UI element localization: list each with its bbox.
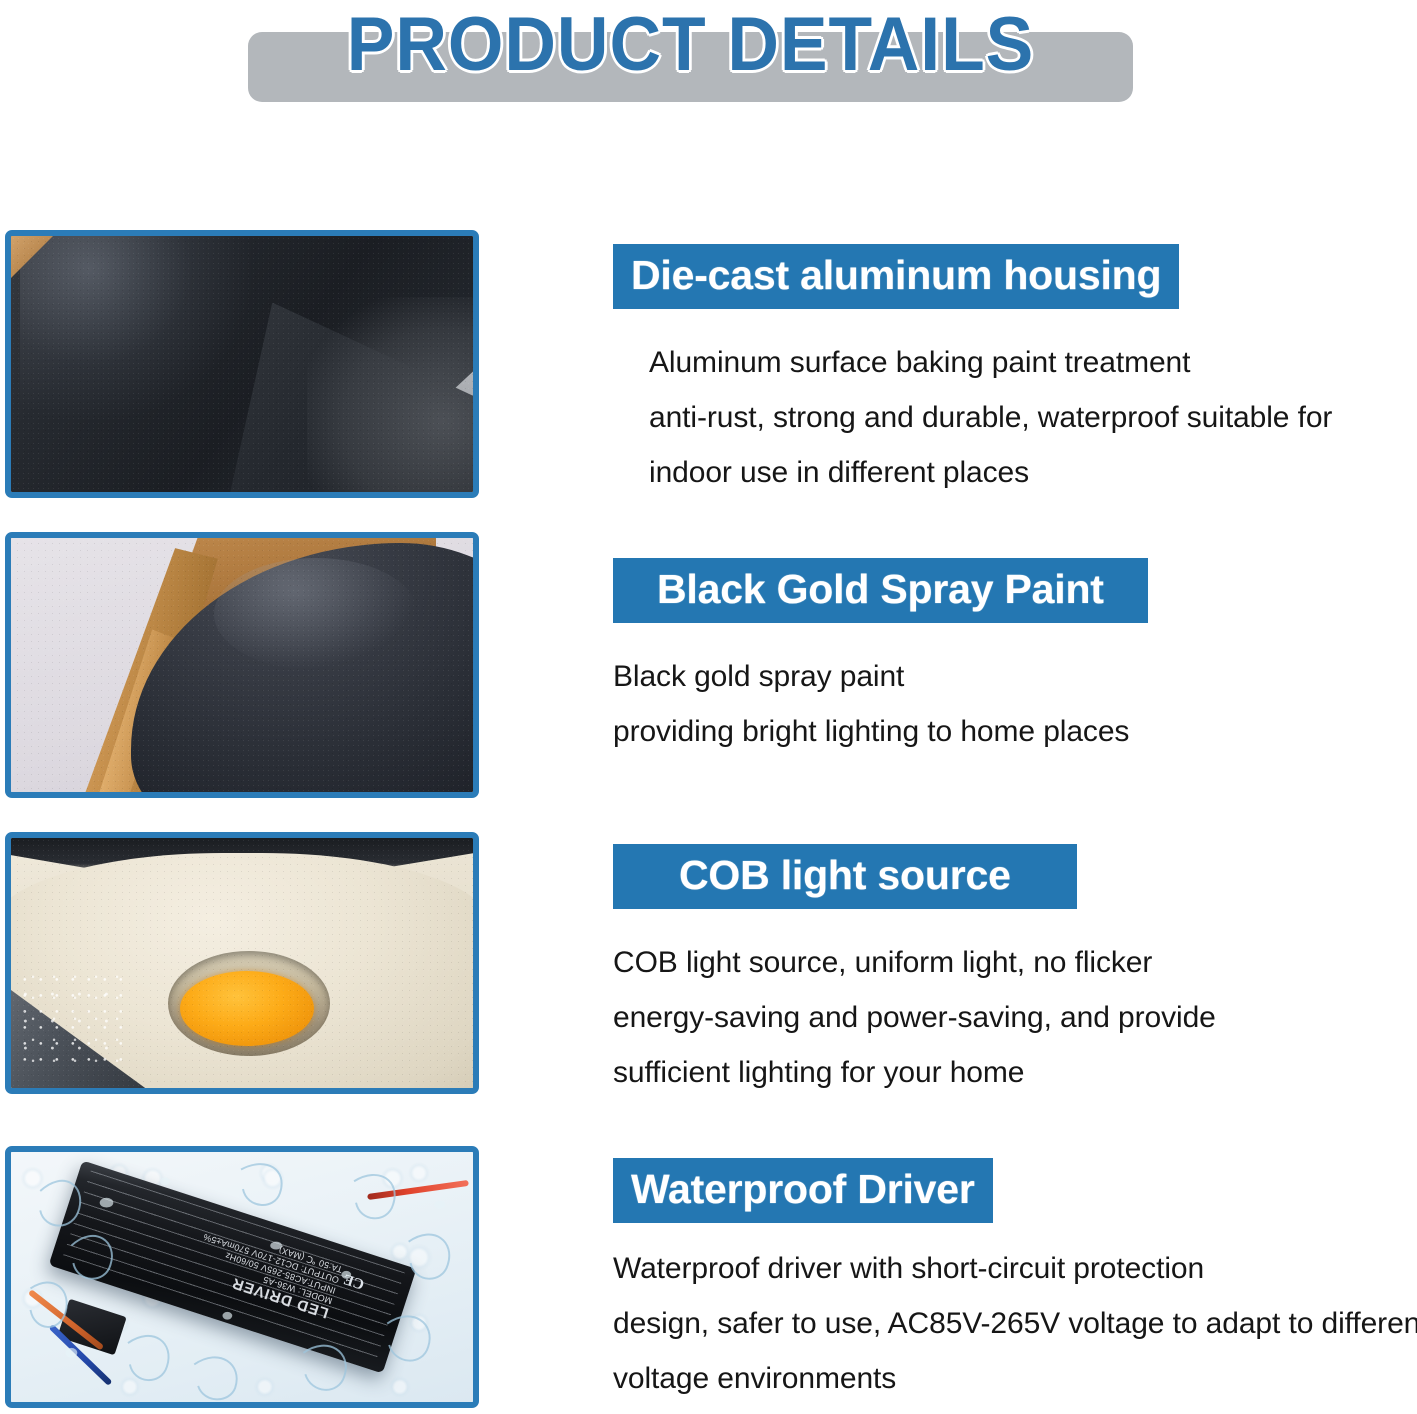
section-3-heading: COB light source bbox=[679, 853, 1011, 897]
section-3-body: COB light source, uniform light, no flic… bbox=[613, 935, 1216, 1100]
section-cob-light-source: COB light source COB light source, unifo… bbox=[0, 832, 1417, 1094]
body-line: COB light source, uniform light, no flic… bbox=[613, 935, 1216, 990]
body-line: indoor use in different places bbox=[649, 445, 1332, 500]
section-2-heading: Black Gold Spray Paint bbox=[657, 567, 1104, 611]
photo-canvas-4: LED DRIVER MODEL: W36-A5 INPUT:AC85-265V… bbox=[11, 1152, 473, 1402]
body-line: Black gold spray paint bbox=[613, 649, 1148, 704]
section-4-text-column: Waterproof Driver Waterproof driver with… bbox=[613, 1158, 1417, 1406]
body-line: voltage environments bbox=[613, 1351, 1417, 1406]
paint-texture-grain bbox=[11, 538, 473, 792]
body-line: design, safer to use, AC85V-265V voltage… bbox=[613, 1296, 1417, 1351]
body-line: sufficient lighting for your home bbox=[613, 1045, 1216, 1100]
product-details-infographic: PRODUCT DETAILS Die-cast aluminum housin… bbox=[0, 0, 1417, 1414]
body-line: Aluminum surface baking paint treatment bbox=[649, 335, 1332, 390]
section-black-gold-spray-paint: Black Gold Spray Paint Black gold spray … bbox=[0, 532, 1417, 798]
paint-texture-grain bbox=[11, 236, 473, 492]
body-line: Waterproof driver with short-circuit pro… bbox=[613, 1241, 1417, 1296]
section-4-heading: Waterproof Driver bbox=[631, 1167, 975, 1211]
water-splash-overlay bbox=[11, 1152, 473, 1402]
section-2-body: Black gold spray paint providing bright … bbox=[613, 649, 1148, 759]
page-title-banner: PRODUCT DETAILS bbox=[0, 0, 1417, 120]
section-4-heading-bar: Waterproof Driver bbox=[613, 1158, 993, 1223]
section-3-text-column: COB light source COB light source, unifo… bbox=[613, 844, 1216, 1100]
black-gold-spray-paint-photo bbox=[5, 532, 479, 798]
section-1-heading: Die-cast aluminum housing bbox=[631, 253, 1161, 297]
body-line: anti-rust, strong and durable, waterproo… bbox=[649, 390, 1332, 445]
section-waterproof-driver: LED DRIVER MODEL: W36-A5 INPUT:AC85-265V… bbox=[0, 1146, 1417, 1408]
section-4-body: Waterproof driver with short-circuit pro… bbox=[613, 1241, 1417, 1406]
section-1-text-column: Die-cast aluminum housing Aluminum surfa… bbox=[613, 244, 1332, 500]
section-1-heading-bar: Die-cast aluminum housing bbox=[613, 244, 1179, 309]
section-3-heading-bar: COB light source bbox=[613, 844, 1077, 909]
section-die-cast-aluminum-housing: Die-cast aluminum housing Aluminum surfa… bbox=[0, 230, 1417, 498]
section-1-body: Aluminum surface baking paint treatment … bbox=[613, 335, 1332, 500]
photo-canvas-3 bbox=[11, 838, 473, 1088]
surface-texture-grain bbox=[11, 838, 473, 1088]
photo-canvas-1 bbox=[11, 236, 473, 492]
photo-canvas-2 bbox=[11, 538, 473, 792]
body-line: providing bright lighting to home places bbox=[613, 704, 1148, 759]
section-2-text-column: Black Gold Spray Paint Black gold spray … bbox=[613, 558, 1148, 759]
body-line: energy-saving and power-saving, and prov… bbox=[613, 990, 1216, 1045]
page-title: PRODUCT DETAILS bbox=[275, 2, 1107, 88]
die-cast-aluminum-housing-photo bbox=[5, 230, 479, 498]
section-2-heading-bar: Black Gold Spray Paint bbox=[613, 558, 1148, 623]
waterproof-driver-photo: LED DRIVER MODEL: W36-A5 INPUT:AC85-265V… bbox=[5, 1146, 479, 1408]
cob-light-source-photo bbox=[5, 832, 479, 1094]
